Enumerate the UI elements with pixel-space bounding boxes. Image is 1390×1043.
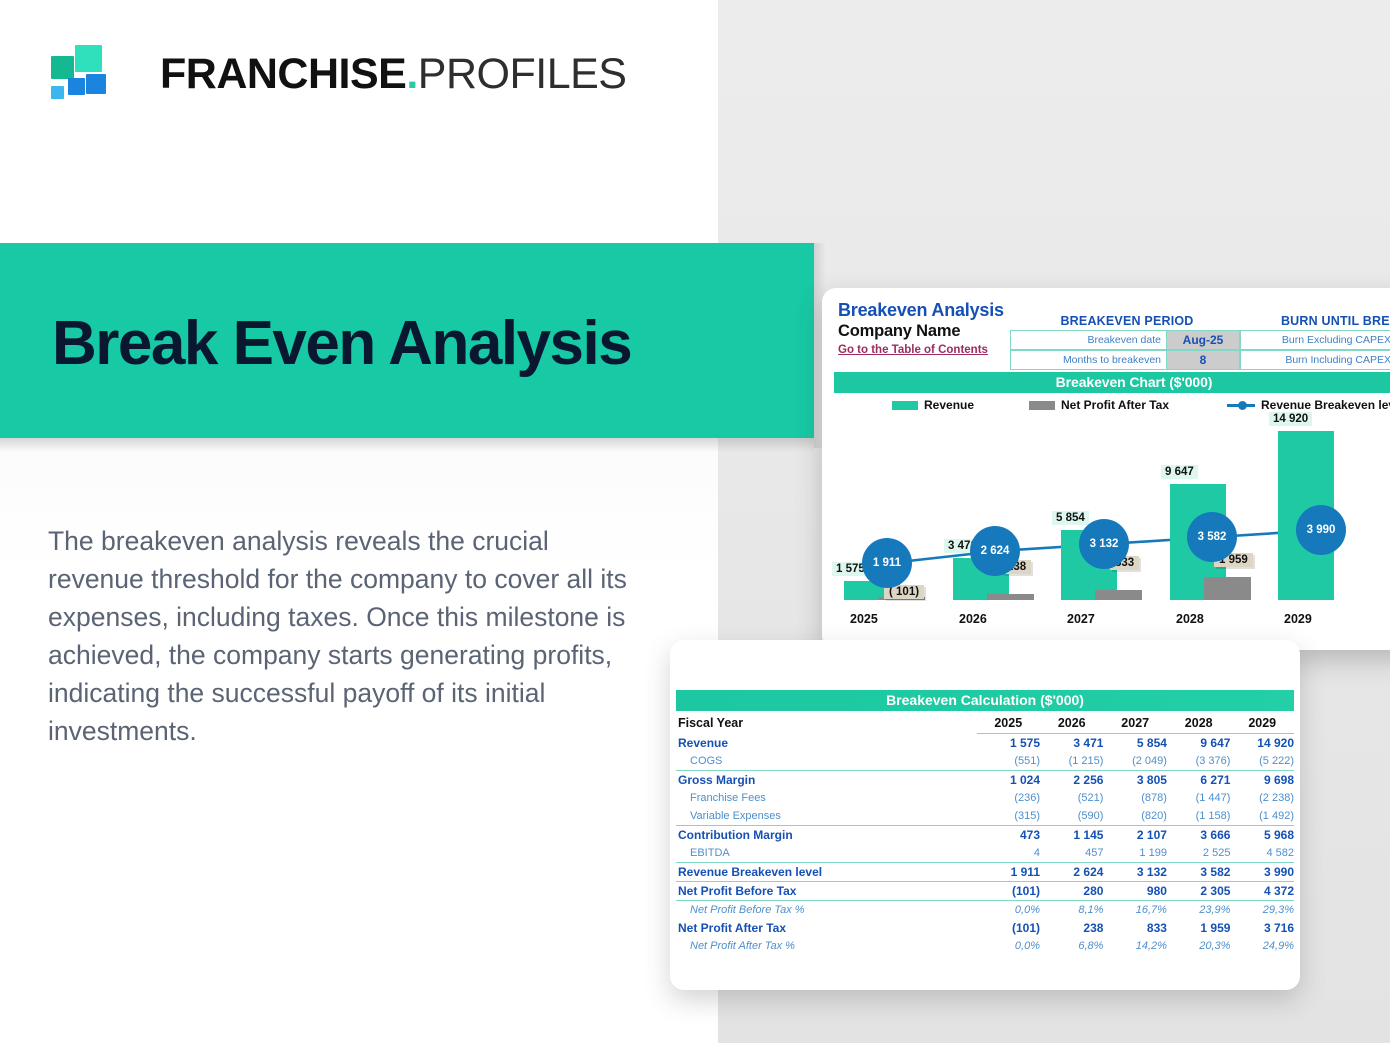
row-label: Net Profit After Tax xyxy=(676,919,977,937)
table-title-bar: Breakeven Calculation ($'000) xyxy=(676,690,1294,711)
hero-band-shadow xyxy=(0,438,814,452)
row-value-2029: 4 582 xyxy=(1230,844,1294,863)
row-value-2026: 2 256 xyxy=(1040,771,1103,790)
table-row: Net Profit Before Tax %0,0%8,1%16,7%23,9… xyxy=(676,901,1294,920)
months-to-breakeven-row[interactable]: Months to breakeven 8 xyxy=(1010,350,1240,370)
legend-item-net-profit-after-tax[interactable]: Net Profit After Tax xyxy=(1029,398,1169,412)
row-value-2027: 3 132 xyxy=(1103,863,1167,882)
row-value-2029: (1 492) xyxy=(1230,807,1294,826)
row-value-2026: 3 471 xyxy=(1040,734,1103,753)
legend-item-revenue[interactable]: Revenue xyxy=(892,398,974,412)
legend-item-revenue-breakeven-level[interactable]: Revenue Breakeven level xyxy=(1227,398,1390,412)
burn-excluding-capex-label: Burn Excluding CAPEX xyxy=(1241,331,1390,349)
row-value-2026: (521) xyxy=(1040,789,1103,807)
breakeven-bubble-2029: 3 990 xyxy=(1296,505,1346,555)
table-row: Variable Expenses(315)(590)(820)(1 158)(… xyxy=(676,807,1294,826)
bar-npat-2027 xyxy=(1095,590,1142,600)
row-label: Net Profit Before Tax % xyxy=(676,901,977,920)
row-value-2027: 833 xyxy=(1103,919,1167,937)
x-axis-label-2027: 2027 xyxy=(1067,612,1095,626)
row-value-2026: (590) xyxy=(1040,807,1103,826)
row-value-2028: 3 582 xyxy=(1167,863,1231,882)
row-label: COGS xyxy=(676,752,977,771)
row-value-2025: (236) xyxy=(977,789,1040,807)
logo-mark-icon xyxy=(48,45,110,101)
logo-name-bold: FRANCHISE xyxy=(160,50,406,98)
row-value-2029: 4 372 xyxy=(1230,882,1294,901)
table-row: Net Profit Before Tax(101)2809802 3054 3… xyxy=(676,882,1294,901)
row-label: Contribution Margin xyxy=(676,826,977,845)
row-value-2025: 1 024 xyxy=(977,771,1040,790)
bar-label-revenue-2027: 5 854 xyxy=(1052,511,1089,525)
legend-label-npat: Net Profit After Tax xyxy=(1061,398,1169,412)
row-value-2027: 980 xyxy=(1103,882,1167,901)
table-row: COGS(551)(1 215)(2 049)(3 376)(5 222) xyxy=(676,752,1294,771)
row-value-2026: 2 624 xyxy=(1040,863,1103,882)
chart-card-title: Breakeven Analysis xyxy=(838,300,1004,321)
row-value-2026: 457 xyxy=(1040,844,1103,863)
row-value-2027: 5 854 xyxy=(1103,734,1167,753)
row-value-2027: 3 805 xyxy=(1103,771,1167,790)
chart-plot-area: 1 575 ( 101) 3 471 238 5 854 833 9 647 1… xyxy=(822,420,1390,600)
row-label: Franchise Fees xyxy=(676,789,977,807)
breakeven-date-value: Aug-25 xyxy=(1166,331,1239,349)
table-row: Revenue Breakeven level1 9112 6243 1323 … xyxy=(676,863,1294,882)
row-value-2025: 1 911 xyxy=(977,863,1040,882)
page-title: Break Even Analysis xyxy=(52,308,631,379)
row-value-2026: 8,1% xyxy=(1040,901,1103,920)
row-value-2029: 14 920 xyxy=(1230,734,1294,753)
burn-including-capex-row[interactable]: Burn Including CAPEX xyxy=(1240,350,1390,370)
row-value-2029: 3 716 xyxy=(1230,919,1294,937)
row-value-2026: (1 215) xyxy=(1040,752,1103,771)
legend-swatch-npat-icon xyxy=(1029,401,1055,410)
row-value-2029: 3 990 xyxy=(1230,863,1294,882)
header-year-2025: 2025 xyxy=(977,714,1040,734)
months-to-breakeven-value: 8 xyxy=(1166,351,1239,369)
logo-dot: . xyxy=(406,50,417,98)
months-to-breakeven-label: Months to breakeven xyxy=(1011,351,1166,369)
row-value-2025: 473 xyxy=(977,826,1040,845)
row-value-2025: 1 575 xyxy=(977,734,1040,753)
row-value-2028: 23,9% xyxy=(1167,901,1231,920)
header-year-2026: 2026 xyxy=(1040,714,1103,734)
bar-npat-2028 xyxy=(1204,577,1251,600)
row-value-2027: (820) xyxy=(1103,807,1167,826)
row-value-2027: 1 199 xyxy=(1103,844,1167,863)
header-fiscal-year: Fiscal Year xyxy=(676,714,977,734)
row-value-2027: 2 107 xyxy=(1103,826,1167,845)
breakeven-period-heading: BREAKEVEN PERIOD xyxy=(1012,314,1242,328)
table-of-contents-link[interactable]: Go to the Table of Contents xyxy=(838,344,1004,356)
row-value-2029: 9 698 xyxy=(1230,771,1294,790)
hero-body-text: The breakeven analysis reveals the cruci… xyxy=(48,522,628,750)
table-row: Net Profit After Tax(101)2388331 9593 71… xyxy=(676,919,1294,937)
row-value-2028: 20,3% xyxy=(1167,937,1231,955)
row-value-2025: 0,0% xyxy=(977,901,1040,920)
table-row: Franchise Fees(236)(521)(878)(1 447)(2 2… xyxy=(676,789,1294,807)
row-value-2028: 2 525 xyxy=(1167,844,1231,863)
row-value-2025: (551) xyxy=(977,752,1040,771)
table-body: Fiscal Year 2025 2026 2027 2028 2029 Rev… xyxy=(676,714,1294,955)
breakeven-calculation-table: Fiscal Year 2025 2026 2027 2028 2029 Rev… xyxy=(676,714,1294,955)
row-label: Gross Margin xyxy=(676,771,977,790)
x-axis-label-2029: 2029 xyxy=(1284,612,1312,626)
logo-wordmark: FRANCHISE.PROFILES xyxy=(160,43,626,105)
row-label: Revenue Breakeven level xyxy=(676,863,977,882)
chart-card-header: Breakeven Analysis Company Name Go to th… xyxy=(838,300,1004,356)
row-value-2027: (878) xyxy=(1103,789,1167,807)
header-year-2029: 2029 xyxy=(1230,714,1294,734)
logo-name-light: PROFILES xyxy=(418,50,627,98)
row-value-2028: 1 959 xyxy=(1167,919,1231,937)
row-value-2028: 3 666 xyxy=(1167,826,1231,845)
row-label: Net Profit Before Tax xyxy=(676,882,977,901)
row-value-2025: (101) xyxy=(977,919,1040,937)
table-row: Contribution Margin4731 1452 1073 6665 9… xyxy=(676,826,1294,845)
row-value-2028: 9 647 xyxy=(1167,734,1231,753)
legend-swatch-revenue-icon xyxy=(892,401,918,410)
row-value-2025: (315) xyxy=(977,807,1040,826)
row-value-2027: 14,2% xyxy=(1103,937,1167,955)
breakeven-chart-card: Breakeven Analysis Company Name Go to th… xyxy=(822,288,1390,650)
burn-until-breakeven-heading: BURN UNTIL BREAKEVEN xyxy=(1242,314,1390,328)
legend-label-breakeven: Revenue Breakeven level xyxy=(1261,398,1390,412)
burn-including-capex-label: Burn Including CAPEX xyxy=(1241,351,1390,369)
row-label: Variable Expenses xyxy=(676,807,977,826)
legend-line-breakeven-icon xyxy=(1227,404,1255,407)
row-value-2028: 6 271 xyxy=(1167,771,1231,790)
row-value-2027: 16,7% xyxy=(1103,901,1167,920)
table-row: Gross Margin1 0242 2563 8056 2719 698 xyxy=(676,771,1294,790)
breakeven-bubble-2027: 3 132 xyxy=(1079,519,1129,569)
table-header-row: Fiscal Year 2025 2026 2027 2028 2029 xyxy=(676,714,1294,734)
row-value-2025: 4 xyxy=(977,844,1040,863)
legend-label-revenue: Revenue xyxy=(924,398,974,412)
row-label: EBITDA xyxy=(676,844,977,863)
header-year-2028: 2028 xyxy=(1167,714,1231,734)
x-axis-label-2026: 2026 xyxy=(959,612,987,626)
row-value-2028: (3 376) xyxy=(1167,752,1231,771)
breakeven-bubble-2025: 1 911 xyxy=(862,538,912,588)
row-value-2029: (2 238) xyxy=(1230,789,1294,807)
x-axis-label-2028: 2028 xyxy=(1176,612,1204,626)
row-label: Net Profit After Tax % xyxy=(676,937,977,955)
chart-card-company-name: Company Name xyxy=(838,322,1004,341)
row-value-2026: 280 xyxy=(1040,882,1103,901)
breakeven-date-label: Breakeven date xyxy=(1011,331,1166,349)
row-value-2028: 2 305 xyxy=(1167,882,1231,901)
table-row: Net Profit After Tax %0,0%6,8%14,2%20,3%… xyxy=(676,937,1294,955)
breakeven-calculation-card: Breakeven Calculation ($'000) Fiscal Yea… xyxy=(670,640,1300,990)
bar-label-revenue-2029: 14 920 xyxy=(1269,412,1312,426)
bar-npat-2026 xyxy=(987,594,1034,600)
chart-title-bar: Breakeven Chart ($'000) xyxy=(834,372,1390,393)
header-year-2027: 2027 xyxy=(1103,714,1167,734)
table-row: EBITDA44571 1992 5254 582 xyxy=(676,844,1294,863)
row-value-2026: 6,8% xyxy=(1040,937,1103,955)
row-value-2025: (101) xyxy=(977,882,1040,901)
bar-label-revenue-2028: 9 647 xyxy=(1161,465,1198,479)
x-axis-label-2025: 2025 xyxy=(850,612,878,626)
brand-logo[interactable]: FRANCHISE.PROFILES xyxy=(48,45,548,107)
row-value-2028: (1 158) xyxy=(1167,807,1231,826)
row-value-2026: 1 145 xyxy=(1040,826,1103,845)
row-value-2029: 5 968 xyxy=(1230,826,1294,845)
burn-excluding-capex-row[interactable]: Burn Excluding CAPEX xyxy=(1240,330,1390,350)
breakeven-date-row[interactable]: Breakeven date Aug-25 xyxy=(1010,330,1240,350)
chart-x-axis: 2025 2026 2027 2028 2029 xyxy=(822,612,1390,632)
row-value-2025: 0,0% xyxy=(977,937,1040,955)
row-value-2027: (2 049) xyxy=(1103,752,1167,771)
breakeven-bubble-2026: 2 624 xyxy=(970,526,1020,576)
row-value-2029: 24,9% xyxy=(1230,937,1294,955)
row-value-2026: 238 xyxy=(1040,919,1103,937)
row-value-2029: 29,3% xyxy=(1230,901,1294,920)
breakeven-bubble-2028: 3 582 xyxy=(1187,512,1237,562)
row-value-2028: (1 447) xyxy=(1167,789,1231,807)
row-label: Revenue xyxy=(676,734,977,753)
row-value-2029: (5 222) xyxy=(1230,752,1294,771)
table-row: Revenue1 5753 4715 8549 64714 920 xyxy=(676,734,1294,753)
